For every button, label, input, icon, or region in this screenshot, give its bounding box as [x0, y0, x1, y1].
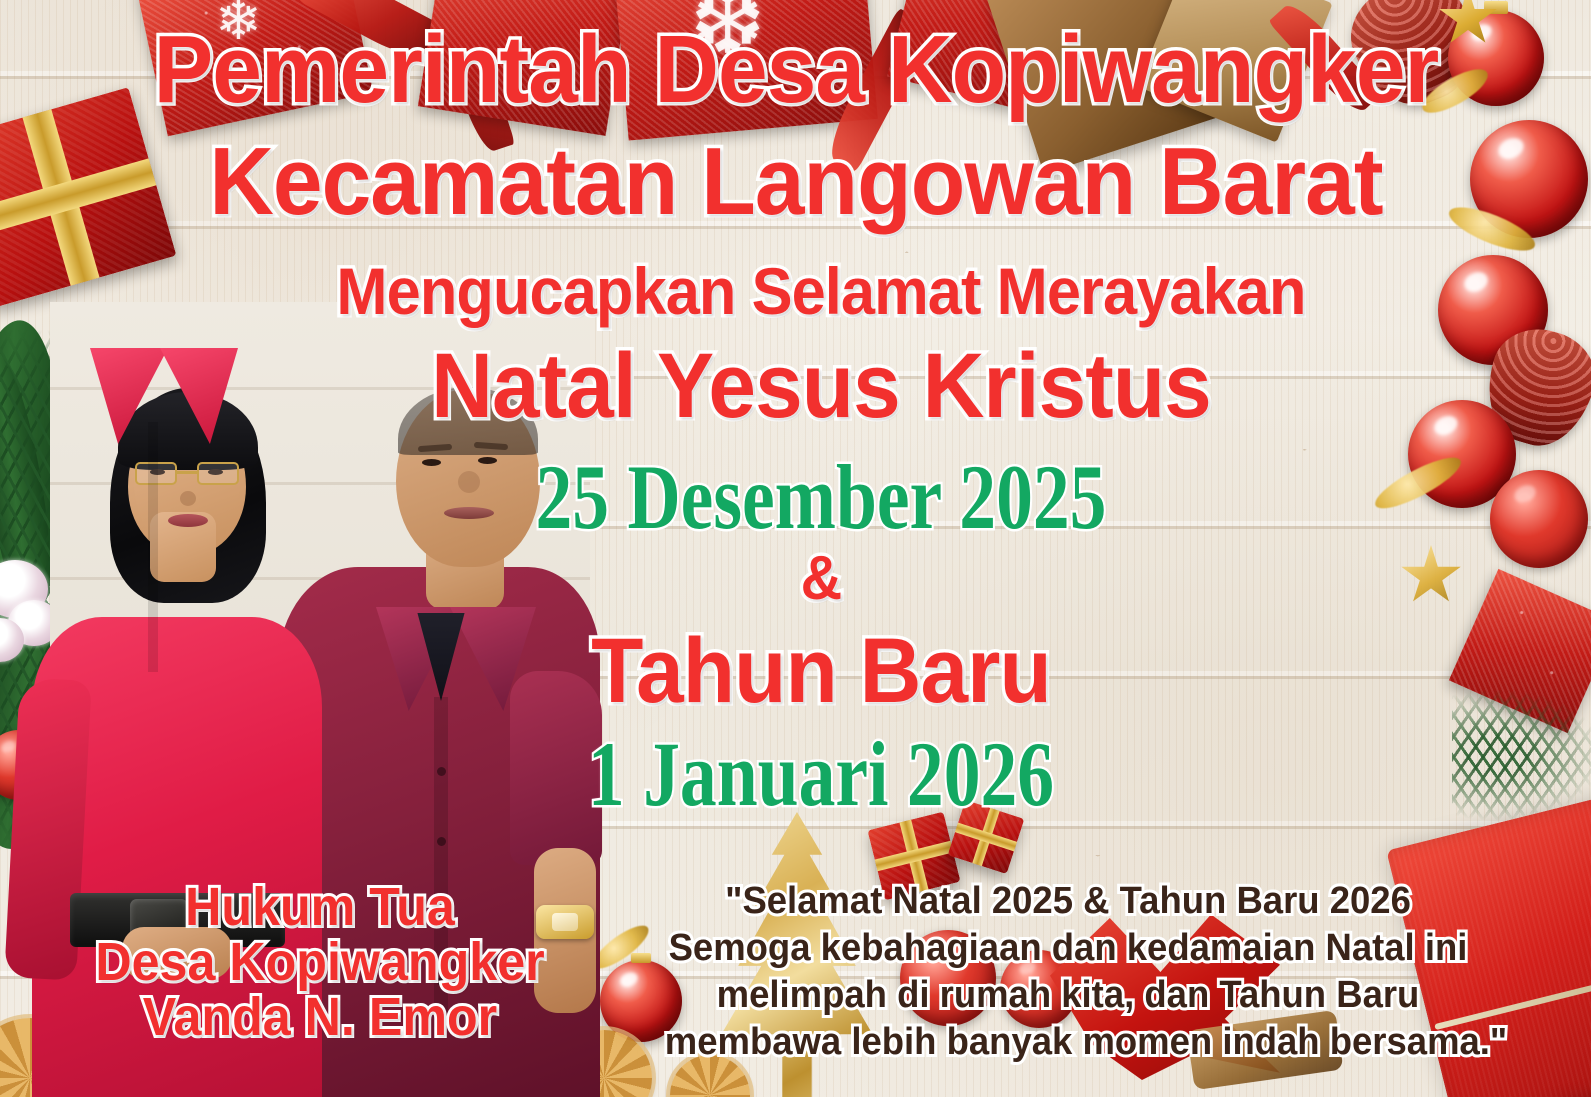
- signature-block: Hukum Tua Desa Kopiwangker Vanda N. Emor: [0, 880, 640, 1045]
- new-year-date: 1 Januari 2026: [587, 728, 1053, 820]
- quote-line-2: Semoga kebahagiaan dan kedamaian Natal i…: [665, 925, 1471, 972]
- headline-line-2: Kecamatan Langowan Barat: [209, 134, 1382, 230]
- headline-line-4: Natal Yesus Kristus: [431, 340, 1211, 432]
- christmas-date: 25 Desember 2025: [535, 451, 1106, 543]
- quote-line-1: "Selamat Natal 2025 & Tahun Baru 2026: [665, 878, 1471, 925]
- signature-village: Desa Kopiwangker: [22, 935, 617, 990]
- headline-line-3: Mengucapkan Selamat Merayakan: [336, 258, 1305, 324]
- ampersand-separator: &: [800, 548, 841, 610]
- new-year-title: Tahun Baru: [591, 625, 1051, 717]
- quote-line-4: membawa lebih banyak momen indah bersama…: [665, 1019, 1471, 1066]
- headline-line-1: Pemerintah Desa Kopiwangker: [153, 22, 1438, 118]
- text-layer: Pemerintah Desa Kopiwangker Kecamatan La…: [0, 0, 1591, 1097]
- signature-name: Vanda N. Emor: [22, 990, 617, 1045]
- greeting-quote-block: "Selamat Natal 2025 & Tahun Baru 2026 Se…: [648, 878, 1488, 1066]
- signature-role: Hukum Tua: [22, 880, 617, 935]
- christmas-greeting-poster: ❄ ❆: [0, 0, 1591, 1097]
- quote-line-3: melimpah di rumah kita, dan Tahun Baru: [665, 972, 1471, 1019]
